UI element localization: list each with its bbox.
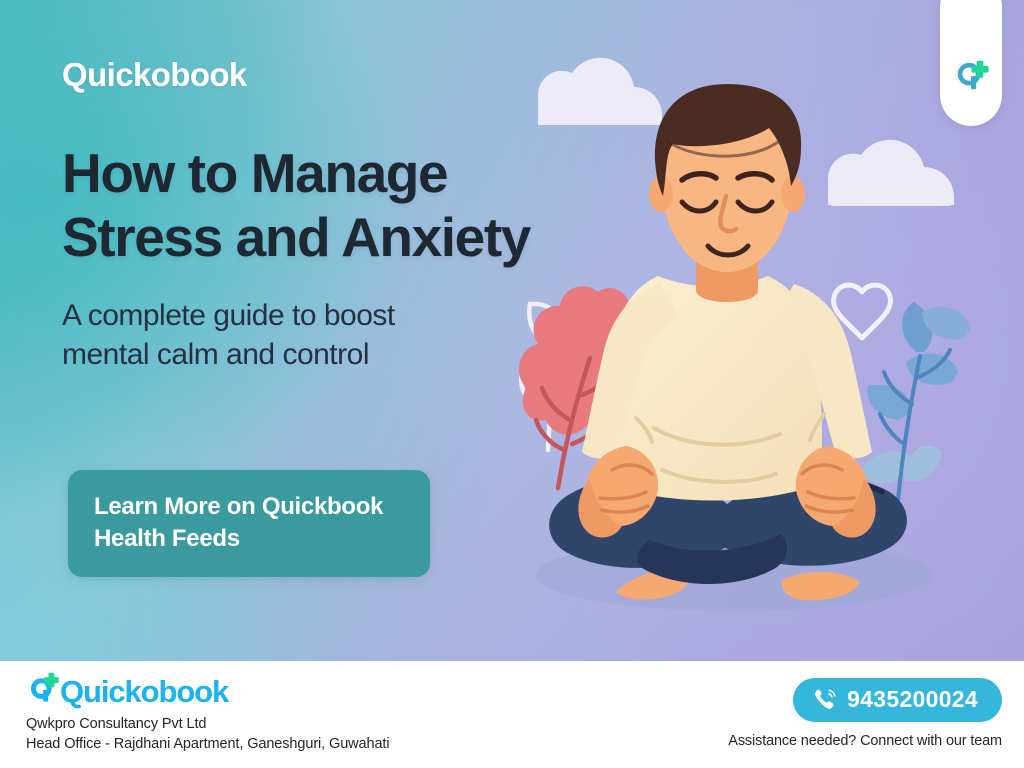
headline-line-1: How to Manage	[62, 142, 447, 204]
footer-address: Head Office - Rajdhani Apartment, Ganesh…	[26, 736, 389, 752]
headline-line-2: Stress and Anxiety	[62, 206, 530, 268]
cta-line-1: Learn More on Quickbook	[94, 493, 383, 520]
quickobook-badge-tab	[940, 0, 1002, 126]
meditation-illustration	[430, 0, 1024, 661]
subtitle-line-1: A complete guide to boost	[62, 299, 395, 332]
quickobook-q-plus-logo-icon	[952, 57, 990, 100]
subtitle-line-2: mental calm and control	[62, 338, 369, 371]
phone-ringing-icon	[813, 687, 838, 712]
blue-leaf-plant-icon	[858, 302, 970, 500]
phone-number-text: 9435200024	[847, 686, 978, 713]
page-title: How to Manage Stress and Anxiety	[62, 141, 530, 270]
brand-wordmark: Quickobook	[62, 56, 247, 94]
hero-section: Quickobook How to Manage Stress and Anxi…	[0, 0, 1024, 661]
phone-number-button[interactable]: 9435200024	[793, 678, 1002, 722]
quickobook-q-plus-logo-icon	[26, 671, 62, 707]
footer-logo-text: Quickobook	[60, 676, 228, 707]
cloud-right-icon	[828, 140, 954, 206]
page-subtitle: A complete guide to boost mental calm an…	[62, 296, 395, 375]
cta-line-2: Health Feeds	[94, 525, 240, 552]
learn-more-button[interactable]: Learn More on Quickbook Health Feeds	[68, 470, 430, 577]
footer-company-name: Qwkpro Consultancy Pvt Ltd	[26, 716, 389, 732]
footer-company-block: Quickobook Qwkpro Consultancy Pvt Ltd He…	[26, 669, 389, 752]
cloud-left-icon	[538, 58, 662, 125]
promotional-banner: Quickobook How to Manage Stress and Anxi…	[0, 0, 1024, 768]
footer-logo[interactable]: Quickobook	[26, 669, 389, 707]
assistance-text: Assistance needed? Connect with our team	[728, 733, 1002, 749]
footer-bar: Quickobook Qwkpro Consultancy Pvt Ltd He…	[0, 661, 1024, 768]
footer-contact-block: 9435200024 Assistance needed? Connect wi…	[728, 678, 1002, 749]
